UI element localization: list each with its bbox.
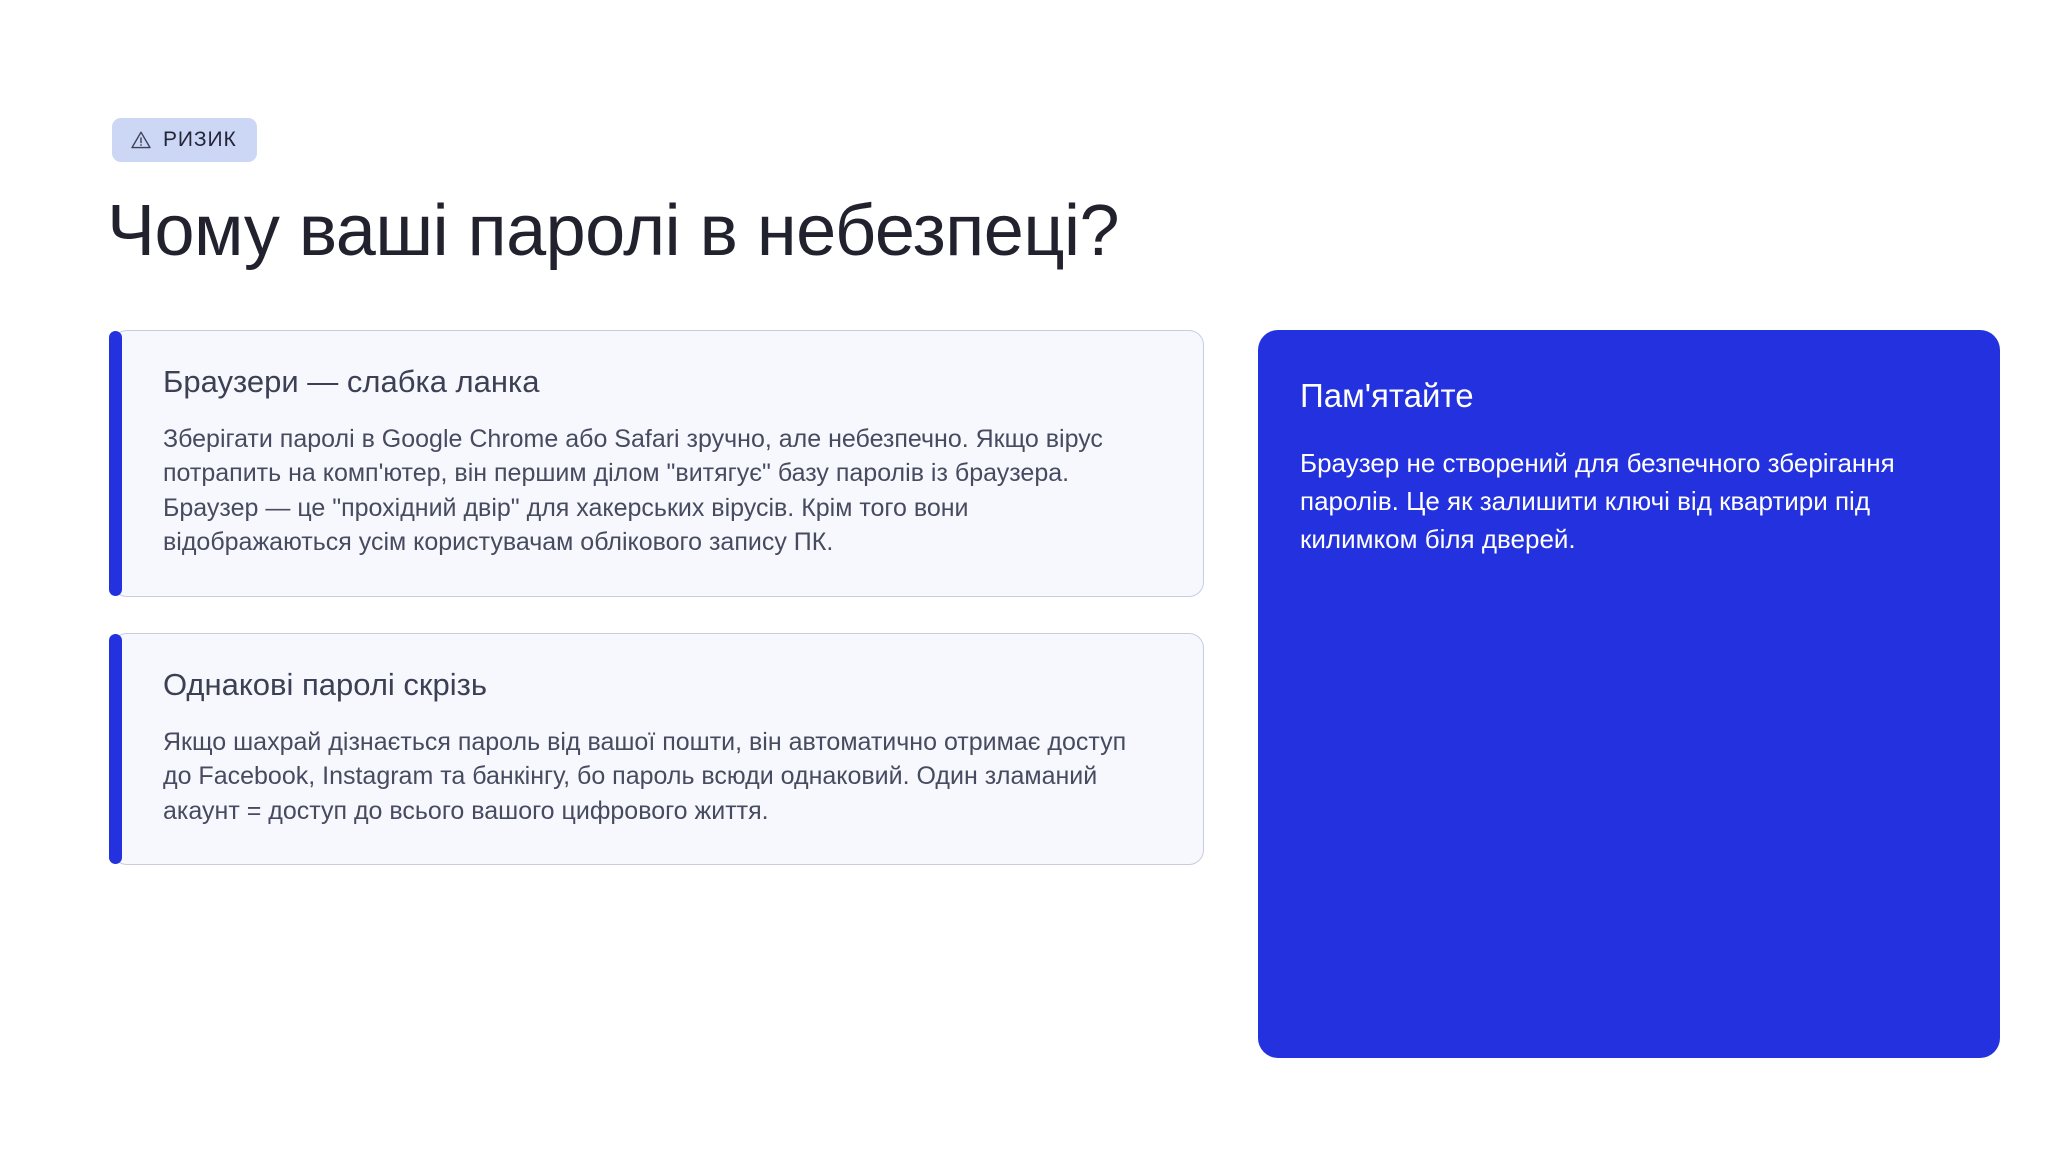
remember-panel: Пам'ятайте Браузер не створений для безп… [1258,330,2000,1058]
slide-root: РИЗИК Чому ваші паролі в небезпеці? Брау… [0,0,2048,1152]
risk-badge-label: РИЗИК [163,129,237,151]
card-accent-bar [109,634,122,865]
card-body: Якщо шахрай дізнається пароль від вашої … [163,725,1159,829]
cards-column: Браузери — слабка ланка Зберігати паролі… [112,330,1204,866]
info-card-browsers: Браузери — слабка ланка Зберігати паролі… [112,330,1204,597]
page-title: Чому ваші паролі в небезпеці? [107,194,2048,270]
card-body: Зберігати паролі в Google Chrome або Saf… [163,422,1159,560]
card-title: Однакові паролі скрізь [163,666,1159,703]
risk-badge: РИЗИК [112,118,257,162]
info-card-reused-passwords: Однакові паролі скрізь Якщо шахрай дізна… [112,633,1204,866]
warning-triangle-icon [130,129,152,151]
card-title: Браузери — слабка ланка [163,363,1159,400]
content-columns: Браузери — слабка ланка Зберігати паролі… [112,330,2048,1058]
card-accent-bar [109,331,122,596]
panel-title: Пам'ятайте [1300,376,1956,416]
panel-body: Браузер не створений для безпечного збер… [1300,445,1956,558]
remember-column: Пам'ятайте Браузер не створений для безп… [1258,330,2000,1058]
